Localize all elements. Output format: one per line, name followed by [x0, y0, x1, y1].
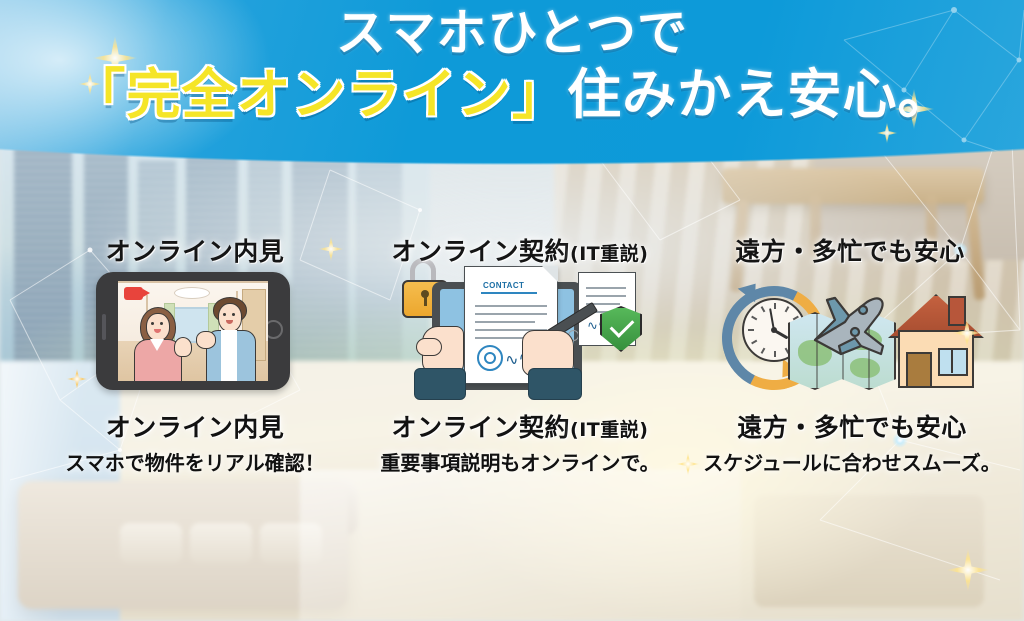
banner-title-line1: スマホひとつで [0, 8, 1024, 58]
label-contract-paren: (IT重説) [570, 419, 648, 441]
column-online-viewing: オンライン内見 [35, 232, 355, 268]
padlock-keyhole [421, 290, 429, 298]
banner-title-highlight: 「完全オンライン」 [71, 63, 567, 126]
right-sleeve [528, 368, 582, 400]
seal-icon [477, 345, 503, 371]
label-online-contract-bottom: オンライン契約(IT重説) [360, 408, 680, 444]
ceiling-lamp-icon [174, 287, 210, 299]
column-online-contract: オンライン契約(IT重説) [360, 232, 680, 268]
banner-title-block: スマホひとつで 「完全オンライン」住みかえ安心。 [0, 8, 1024, 122]
label-remote-busy-bottom: 遠方・多忙でも安心 [690, 408, 1014, 444]
heading-online-viewing-top: オンライン内見 [35, 232, 355, 268]
house-door [906, 352, 932, 388]
contract-title: CONTACT [483, 281, 524, 290]
house-window [938, 348, 968, 376]
label-online-viewing-bottom: オンライン内見 [35, 408, 355, 444]
heading-contract-paren: (IT重説) [570, 243, 648, 265]
promo-banner-image: スマホひとつで 「完全オンライン」住みかえ安心。 オンライン内見 [0, 0, 1024, 621]
column-online-viewing-caption: オンライン内見 スマホで物件をリアル確認！ [35, 408, 355, 476]
column-remote-busy: 遠方・多忙でも安心 [690, 232, 1010, 268]
column-remote-busy-caption: 遠方・多忙でも安心 スケジュールに合わせスムーズ。 [690, 408, 1014, 476]
banner-title-rest: 住みかえ安心。 [567, 63, 953, 126]
subtitle-online-viewing: スマホで物件をリアル確認！ [35, 447, 355, 476]
column-online-contract-caption: オンライン契約(IT重説) 重要事項説明もオンラインで。 [360, 408, 680, 476]
video-camera-icon [124, 287, 143, 300]
heading-remote-busy-top: 遠方・多忙でも安心 [690, 232, 1010, 268]
heading-online-contract-top: オンライン契約(IT重説) [360, 232, 680, 268]
label-contract-main: オンライン契約 [392, 413, 571, 442]
subtitle-online-contract: 重要事項説明もオンラインで。 [360, 447, 680, 476]
subtitle-remote-busy: スケジュールに合わせスムーズ。 [690, 447, 1014, 476]
banner-title-line2: 「完全オンライン」住みかえ安心。 [0, 68, 1024, 122]
background-bright-lounge [0, 361, 1024, 621]
phone-screen [118, 281, 268, 381]
house-chimney [948, 296, 966, 326]
phone-speaker [102, 314, 106, 340]
smartphone-illustration [96, 272, 290, 390]
left-sleeve [414, 368, 466, 400]
heading-contract-main: オンライン契約 [392, 237, 571, 266]
airplane-icon [805, 294, 893, 358]
